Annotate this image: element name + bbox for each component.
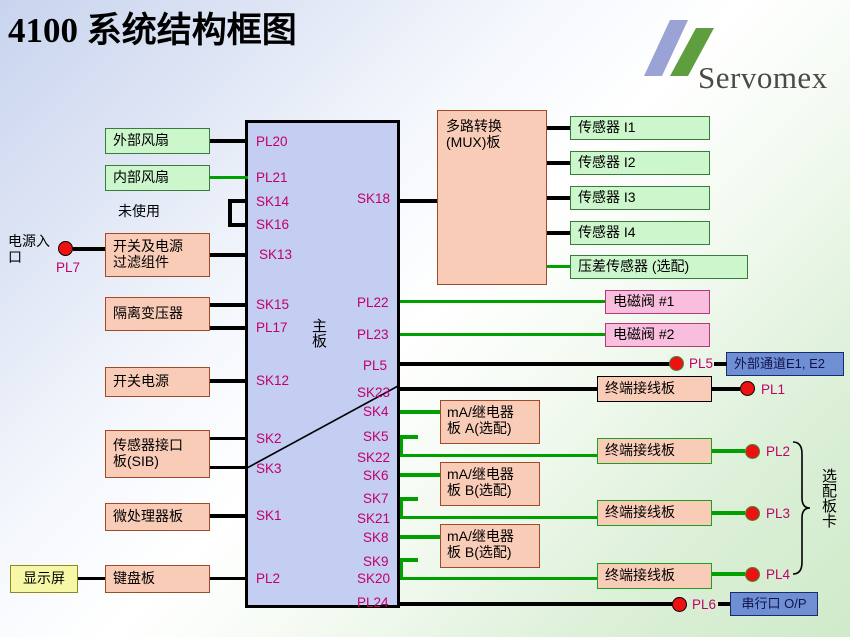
unused-label: 未使用 — [118, 203, 160, 219]
wire-sk15 — [210, 303, 248, 307]
sensor-i3-box[interactable]: 传感器 I3 — [570, 186, 710, 210]
differential-pressure-sensor-box[interactable]: 压差传感器 (选配) — [570, 255, 748, 279]
servomex-logo: Servomex — [636, 14, 848, 94]
port-label-sk6: SK6 — [363, 468, 389, 483]
port-label-pl3: PL3 — [766, 506, 790, 521]
optional-boards-label: 选配板卡 — [818, 468, 839, 528]
external-fan-box[interactable]: 外部风扇 — [105, 128, 210, 154]
port-label-pl6: PL6 — [692, 597, 716, 612]
port-label-pl2-conn: PL2 — [766, 444, 790, 459]
display-box[interactable]: 显示屏 — [10, 565, 78, 593]
switching-power-supply-box[interactable]: 开关电源 — [105, 367, 210, 397]
wire-pl5-run — [400, 362, 672, 366]
wire-sk6-to-relay-b1 — [400, 473, 440, 477]
wire-sk23-to-terminal1 — [400, 387, 597, 391]
port-label-sk5: SK5 — [363, 429, 389, 444]
power-inlet-label: 电源入 口 — [8, 233, 50, 265]
pl5-connector-dot[interactable] — [669, 356, 684, 371]
logo-wordmark: Servomex — [698, 60, 828, 96]
wire-mux-to-i3 — [547, 196, 570, 200]
relay-board-a[interactable]: mA/继电器 板 A(选配) — [440, 400, 540, 444]
wire-pl22-to-valve1 — [400, 300, 605, 303]
port-label-sk4: SK4 — [363, 404, 389, 419]
wire-pl2 — [210, 577, 248, 580]
wire-sk4-to-relay-a — [400, 410, 440, 414]
port-label-sk20: SK20 — [357, 571, 390, 586]
page-title: 4100 系统结构框图 — [8, 2, 297, 53]
port-label-sk21: SK21 — [357, 511, 390, 526]
wire-sk1 — [210, 514, 248, 518]
optional-boards-brace — [790, 438, 814, 578]
relay-board-b1[interactable]: mA/继电器 板 B(选配) — [440, 462, 540, 506]
serial-port-box[interactable]: 串行口 O/P — [730, 592, 818, 616]
port-label-sk8: SK8 — [363, 530, 389, 545]
pl2-connector-dot[interactable] — [745, 444, 760, 459]
wire-sk18-to-mux — [400, 199, 437, 203]
wire-sk12 — [210, 379, 248, 383]
port-label-sk18: SK18 — [357, 191, 390, 206]
keypad-board-box[interactable]: 键盘板 — [105, 565, 210, 593]
port-label-pl5-board: PL5 — [363, 358, 387, 373]
wire-mux-to-i2 — [547, 161, 570, 165]
wire-sk20-to-terminal4 — [400, 577, 597, 580]
wire-sk13 — [210, 253, 248, 257]
wire-display-to-keypad — [78, 577, 105, 580]
diagram-canvas: 4100 系统结构框图 Servomex 主板 外部风扇 内部风扇 未使用 开关… — [0, 0, 850, 637]
sensor-interface-board-box[interactable]: 传感器接口 板(SIB) — [105, 430, 210, 478]
solenoid-valve-1-box[interactable]: 电磁阀 #1 — [605, 290, 710, 314]
pl7-connector-dot[interactable] — [58, 241, 73, 256]
port-label-pl23: PL23 — [357, 327, 389, 342]
wire-mux-to-i4 — [547, 231, 570, 235]
port-label-sk23: SK23 — [357, 385, 390, 400]
wire-terminal3-to-pl3 — [712, 511, 745, 515]
port-label-pl22: PL22 — [357, 295, 389, 310]
wire-sk21-to-terminal3 — [400, 516, 597, 519]
port-label-pl24: PL24 — [357, 595, 389, 610]
wire-sk3 — [210, 466, 248, 469]
pl4-connector-dot[interactable] — [745, 567, 760, 582]
wire-terminal1-to-pl1 — [712, 387, 740, 391]
pl3-connector-dot[interactable] — [745, 506, 760, 521]
relay-board-b2[interactable]: mA/继电器 板 B(选配) — [440, 524, 540, 568]
sensor-i4-box[interactable]: 传感器 I4 — [570, 221, 710, 245]
sensor-i1-box[interactable]: 传感器 I1 — [570, 116, 710, 140]
wire-terminal4-to-pl4 — [712, 572, 745, 576]
wire-pl17 — [210, 326, 248, 330]
port-label-pl4: PL4 — [766, 567, 790, 582]
port-label-sk22: SK22 — [357, 450, 390, 465]
terminal-board-4[interactable]: 终端接线板 — [597, 563, 712, 589]
microprocessor-board-box[interactable]: 微处理器板 — [105, 503, 210, 531]
wire-sk2 — [210, 437, 248, 440]
wire-mux-to-i1 — [547, 126, 570, 130]
wire-pl20 — [210, 139, 248, 143]
power-filter-assembly-box[interactable]: 开关及电源 过滤组件 — [105, 233, 210, 277]
wire-mux-to-dp-sensor — [547, 265, 570, 268]
pl1-connector-dot[interactable] — [740, 381, 755, 396]
internal-fan-box[interactable]: 内部风扇 — [105, 165, 210, 191]
port-label-sk7: SK7 — [363, 491, 389, 506]
wire-pl23-to-valve2 — [400, 333, 605, 336]
terminal-board-2[interactable]: 终端接线板 — [597, 438, 712, 464]
wire-pl5-to-external — [714, 362, 727, 366]
port-label-sk9: SK9 — [363, 554, 389, 569]
wire-pl6-to-serial — [718, 602, 730, 606]
sensor-i2-box[interactable]: 传感器 I2 — [570, 151, 710, 175]
pl6-connector-dot[interactable] — [672, 597, 687, 612]
wire-pl7-to-filter — [73, 247, 105, 251]
wire-pl24-run — [400, 602, 680, 606]
port-label-pl7: PL7 — [56, 260, 80, 275]
port-label-pl1: PL1 — [761, 382, 785, 397]
isolation-transformer-box[interactable]: 隔离变压器 — [105, 297, 210, 331]
port-label-pl5: PL5 — [689, 356, 713, 371]
terminal-board-3[interactable]: 终端接线板 — [597, 500, 712, 526]
wire-pl21 — [210, 176, 248, 179]
wire-sk22-to-terminal2 — [400, 454, 597, 457]
solenoid-valve-2-box[interactable]: 电磁阀 #2 — [605, 323, 710, 347]
external-channel-box[interactable]: 外部通道E1, E2 — [726, 352, 844, 376]
wire-terminal2-to-pl2 — [712, 449, 745, 453]
terminal-board-1[interactable]: 终端接线板 — [597, 376, 712, 402]
wire-sk8-to-relay-b2 — [400, 535, 440, 539]
mux-board[interactable]: 多路转换 (MUX)板 — [437, 110, 547, 285]
